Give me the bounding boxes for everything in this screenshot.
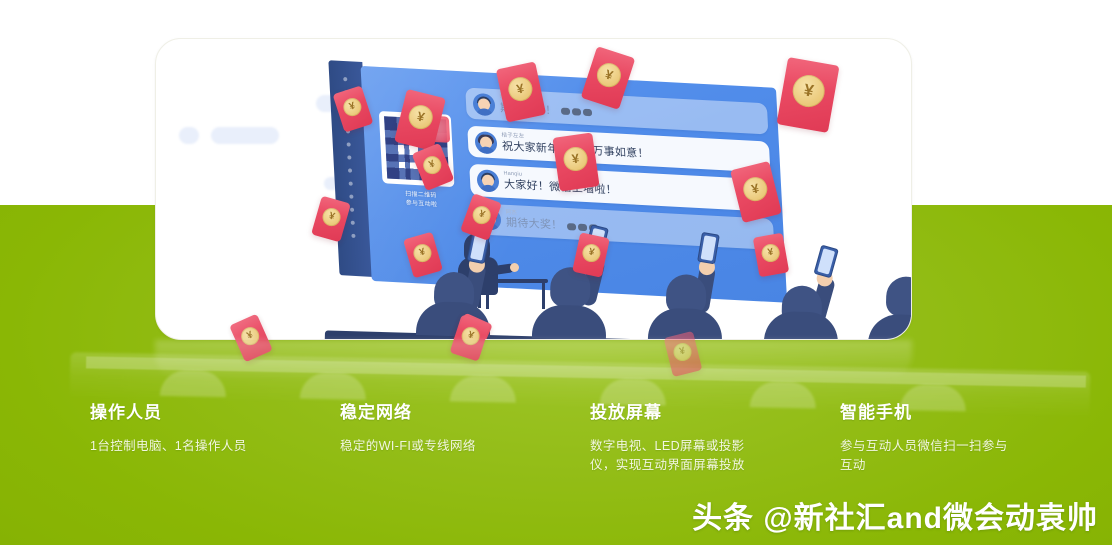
feature-desc: 1台控制电脑、1名操作人员 (90, 437, 262, 456)
illustration-card: 扫描二维码 参与互动啦 明明 期待大奖！ (155, 38, 912, 340)
red-envelope: ¥ (776, 57, 839, 133)
coin-icon: ¥ (470, 203, 493, 226)
coin-icon: ¥ (406, 102, 435, 131)
coin-icon: ¥ (741, 174, 770, 203)
coin-icon: ¥ (420, 153, 443, 176)
coin-icon: ¥ (790, 72, 827, 109)
feature-desc: 数字电视、LED屏幕或投影仪，实现互动界面屏幕投放 (590, 437, 762, 476)
audience-person (645, 251, 727, 339)
phone-icon (813, 245, 838, 279)
shoulders (532, 304, 607, 339)
feature-item-operators: 操作人员 1台控制电脑、1名操作人员 (90, 398, 340, 498)
coin-icon: ¥ (411, 242, 433, 264)
avatar (474, 131, 497, 154)
feature-item-screen: 投放屏幕 数字电视、LED屏幕或投影仪，实现互动界面屏幕投放 (590, 398, 840, 498)
coin-icon: ¥ (760, 242, 781, 263)
shoulders (764, 311, 839, 339)
shoulders (868, 314, 911, 339)
coin-icon: ¥ (321, 206, 343, 228)
avatar (476, 169, 499, 192)
coin-icon: ¥ (562, 145, 589, 172)
avatar (472, 93, 495, 116)
feature-item-phone: 智能手机 参与互动人员微信扫一扫参与互动 (840, 398, 1090, 498)
feature-title: 操作人员 (90, 398, 312, 423)
feature-desc: 稳定的WI-FI或专线网络 (340, 437, 512, 456)
feature-item-network: 稳定网络 稳定的WI-FI或专线网络 (340, 398, 590, 498)
watermark: 头条 @新社汇and微会动袁帅 (692, 493, 1098, 537)
coin-icon: ¥ (594, 60, 624, 90)
head (886, 276, 911, 317)
emoji-icons (560, 105, 594, 119)
page-root: 扫描二维码 参与互动啦 明明 期待大奖！ (0, 0, 1112, 545)
feature-title: 投放屏幕 (590, 398, 812, 423)
illustration-canvas: 扫描二维码 参与互动啦 明明 期待大奖！ (156, 39, 911, 339)
feature-title: 稳定网络 (340, 398, 562, 423)
audience-person (865, 256, 911, 339)
feature-desc: 参与互动人员微信扫一扫参与互动 (840, 437, 1012, 476)
coin-icon: ¥ (506, 75, 534, 103)
coin-icon: ¥ (581, 242, 602, 263)
feature-title: 智能手机 (840, 398, 1062, 423)
decor-pill-2 (179, 127, 199, 144)
feature-list: 操作人员 1台控制电脑、1名操作人员 稳定网络 稳定的WI-FI或专线网络 投放… (90, 398, 1090, 498)
red-envelope: ¥ (552, 132, 599, 191)
decor-pill-3 (211, 127, 279, 144)
coin-icon: ¥ (341, 95, 364, 118)
card-reflection (155, 340, 912, 380)
phone-icon (697, 232, 720, 265)
